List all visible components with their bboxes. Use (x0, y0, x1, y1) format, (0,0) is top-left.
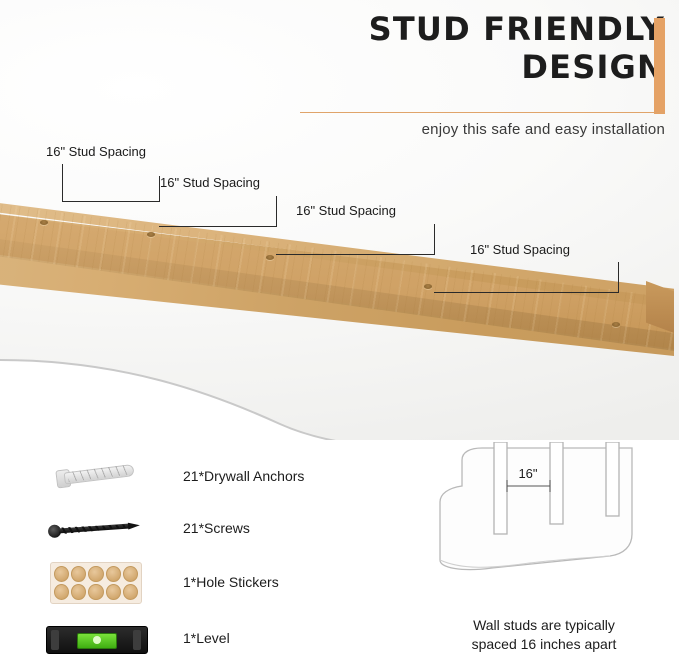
accessory-row-screws: 21*Screws (28, 504, 428, 556)
headline-line-1: STUD FRIENDLY (245, 10, 665, 48)
dimension-line (62, 201, 160, 202)
stud-diagram-caption: Wall studs are typically spaced 16 inche… (420, 616, 668, 654)
mounting-hole (266, 255, 274, 260)
wall-stud (606, 442, 619, 516)
wall-stud (550, 442, 563, 524)
dimension-line (276, 254, 435, 255)
headline-block: STUD FRIENDLY DESIGN (245, 10, 665, 86)
accessory-label-level: 1*Level (183, 630, 230, 646)
floating-shelf-product (0, 196, 679, 372)
screw-icon (28, 504, 158, 556)
stud-spacing-measurement: 16" (518, 466, 537, 481)
accessories-list: 21*Drywall Anchors 21*Screws 1*Hole (28, 452, 428, 666)
bubble-level-icon (28, 614, 158, 666)
dimension-line (434, 292, 619, 293)
background-swoosh-divider (0, 352, 679, 440)
hole-sticker-sheet-icon (28, 556, 158, 608)
accessory-row-anchors: 21*Drywall Anchors (28, 452, 428, 504)
product-photo-area: STUD FRIENDLY DESIGN enjoy this safe and… (0, 0, 679, 440)
accessory-label-screws: 21*Screws (183, 520, 250, 536)
mounting-hole (147, 232, 155, 237)
accessory-label-anchors: 21*Drywall Anchors (183, 468, 304, 484)
accessory-row-stickers: 1*Hole Stickers (28, 556, 428, 614)
dimension-tick (618, 262, 619, 292)
mounting-hole (40, 220, 48, 225)
stud-spacing-label-1: 16" Stud Spacing (46, 144, 146, 159)
headline-accent-bar (654, 18, 665, 114)
drywall-anchor-icon (28, 452, 158, 504)
headline-divider-rule (300, 112, 665, 113)
mounting-hole (424, 284, 432, 289)
dimension-line (159, 226, 277, 227)
mounting-hole (612, 322, 620, 327)
accessory-row-level: 1*Level (28, 614, 428, 666)
accessory-label-stickers: 1*Hole Stickers (183, 574, 279, 590)
stud-spacing-label-4: 16" Stud Spacing (470, 242, 570, 257)
dimension-tick (62, 164, 63, 202)
stud-spacing-label-3: 16" Stud Spacing (296, 203, 396, 218)
shelf-body (0, 196, 679, 372)
stud-caption-line-2: spaced 16 inches apart (420, 635, 668, 654)
product-infographic: STUD FRIENDLY DESIGN enjoy this safe and… (0, 0, 679, 667)
wall-stud-diagram: 16" (432, 442, 664, 607)
dimension-tick (434, 224, 435, 254)
wall-stud (494, 442, 507, 534)
headline-line-2: DESIGN (245, 48, 665, 86)
stud-spacing-label-2: 16" Stud Spacing (160, 175, 260, 190)
dimension-tick (276, 196, 277, 226)
stud-caption-line-1: Wall studs are typically (420, 616, 668, 635)
headline-subtitle: enjoy this safe and easy installation (245, 121, 665, 138)
